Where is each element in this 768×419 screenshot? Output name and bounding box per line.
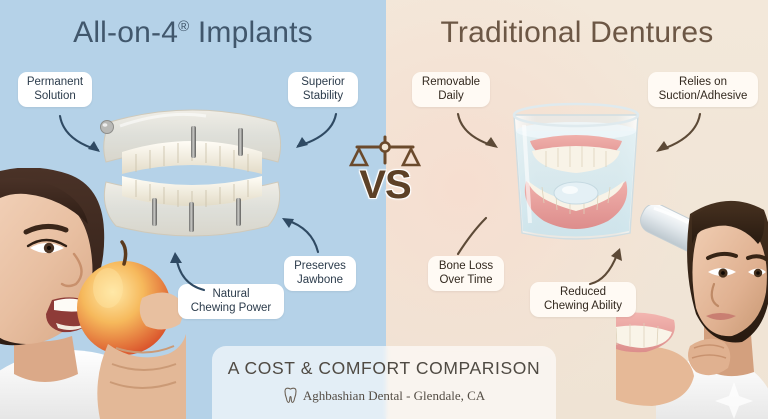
left-title-suffix: Implants	[189, 16, 313, 49]
arrow-reduced-chewing-ability	[584, 244, 628, 288]
practice-name: Aghbashian Dental - Glendale, CA	[303, 388, 485, 404]
registered-trademark-icon: ®	[178, 18, 189, 35]
callout-preserves-jawbone: Preserves Jawbone	[284, 256, 356, 291]
left-title-main: All-on-4	[73, 16, 178, 49]
versus-group: VS	[345, 133, 425, 229]
held-denture	[616, 312, 675, 352]
callout-permanent-solution: Permanent Solution	[18, 72, 92, 107]
bottom-banner: A COST & COMFORT COMPARISON Aghbashian D…	[212, 346, 556, 419]
callout-removable-daily: Removable Daily	[412, 72, 490, 107]
photo-woman-holding-dentures	[616, 196, 768, 419]
infographic-canvas: Permanent Solution Superior Stability Na…	[0, 0, 768, 419]
arrow-bone-loss-over-time	[452, 212, 494, 258]
arrow-natural-chewing-power	[168, 248, 212, 294]
callout-bone-loss-over-time: Bone Loss Over Time	[428, 256, 504, 291]
arrow-preserves-jawbone	[278, 212, 326, 256]
banner-practice-line: Aghbashian Dental - Glendale, CA	[212, 387, 556, 404]
arrow-superior-stability	[286, 110, 342, 152]
banner-title: A COST & COMFORT COMPARISON	[212, 358, 556, 379]
arrow-permanent-solution	[54, 112, 114, 158]
left-panel-title: All-on-4® Implants	[0, 16, 386, 50]
dental-implant-model	[96, 96, 288, 248]
callout-superior-stability: Superior Stability	[288, 72, 358, 107]
versus-label: VS	[345, 165, 425, 205]
callout-relies-on-suction-adhesive: Relies on Suction/Adhesive	[648, 72, 758, 107]
arrow-relies-on-suction-adhesive	[648, 110, 706, 158]
arrow-removable-daily	[452, 110, 506, 154]
cleaning-tablet	[554, 182, 598, 204]
right-panel-title: Traditional Dentures	[386, 16, 768, 50]
tooth-icon	[283, 387, 298, 404]
